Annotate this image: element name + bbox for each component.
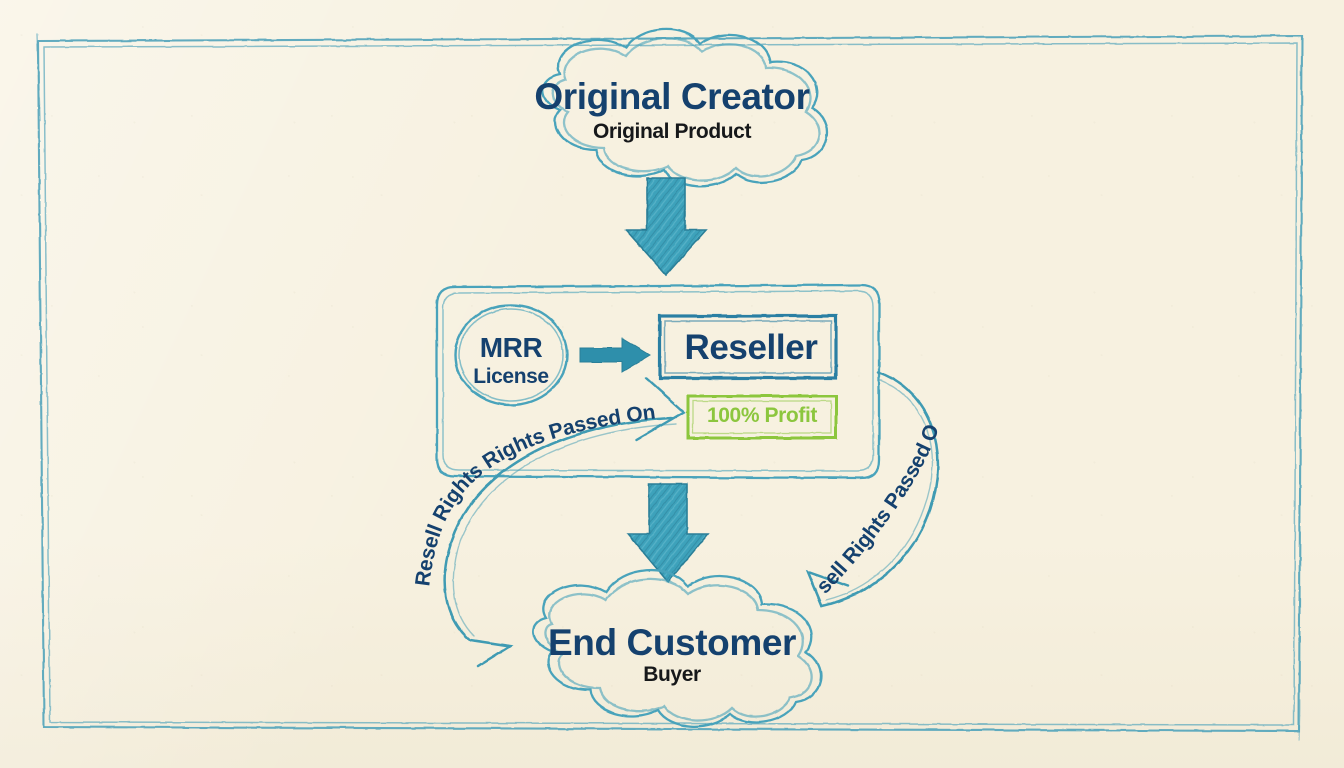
node-subtitle-license: License — [452, 365, 570, 389]
arrow-creator-to-reseller — [626, 178, 706, 275]
arrow-reseller-to-customer — [628, 484, 708, 582]
node-subtitle-original-product: Original Product — [0, 120, 1344, 144]
label-resell-rights-left: Resell Rights Rights Passed On — [411, 401, 656, 588]
node-title-end-customer: End Customer — [0, 622, 1344, 664]
svg-text:Resell Rights Rights Passed On: Resell Rights Rights Passed On — [411, 401, 656, 588]
node-title-reseller: Reseller — [660, 328, 842, 368]
node-title-mrr: MRR — [452, 332, 570, 364]
badge-100-percent-profit: 100% Profit — [690, 404, 834, 428]
curve-label-left: Resell Rights Rights Passed On — [411, 401, 656, 588]
node-subtitle-buyer: Buyer — [0, 663, 1344, 687]
arrow-mrr-to-reseller — [580, 338, 650, 372]
node-title-original-creator: Original Creator — [0, 76, 1344, 118]
